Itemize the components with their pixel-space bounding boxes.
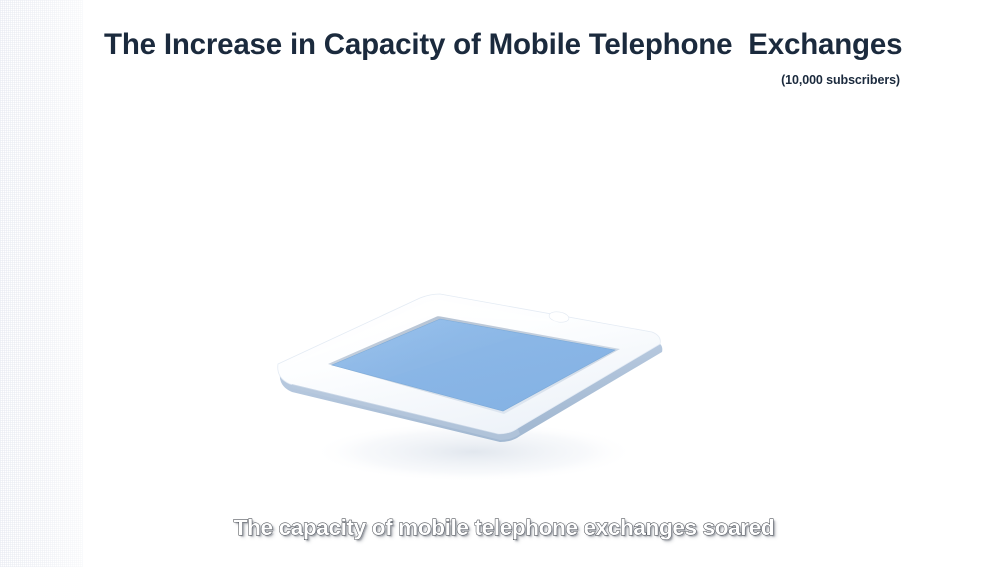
tablet-illustration	[262, 286, 682, 486]
slide-canvas: The Increase in Capacity of Mobile Telep…	[0, 0, 1008, 567]
tablet-svg	[262, 286, 682, 486]
page-title: The Increase in Capacity of Mobile Telep…	[104, 29, 902, 61]
subtitle-unit-note: (10,000 subscribers)	[0, 73, 900, 87]
bottom-caption: The capacity of mobile telephone exchang…	[0, 515, 1008, 541]
